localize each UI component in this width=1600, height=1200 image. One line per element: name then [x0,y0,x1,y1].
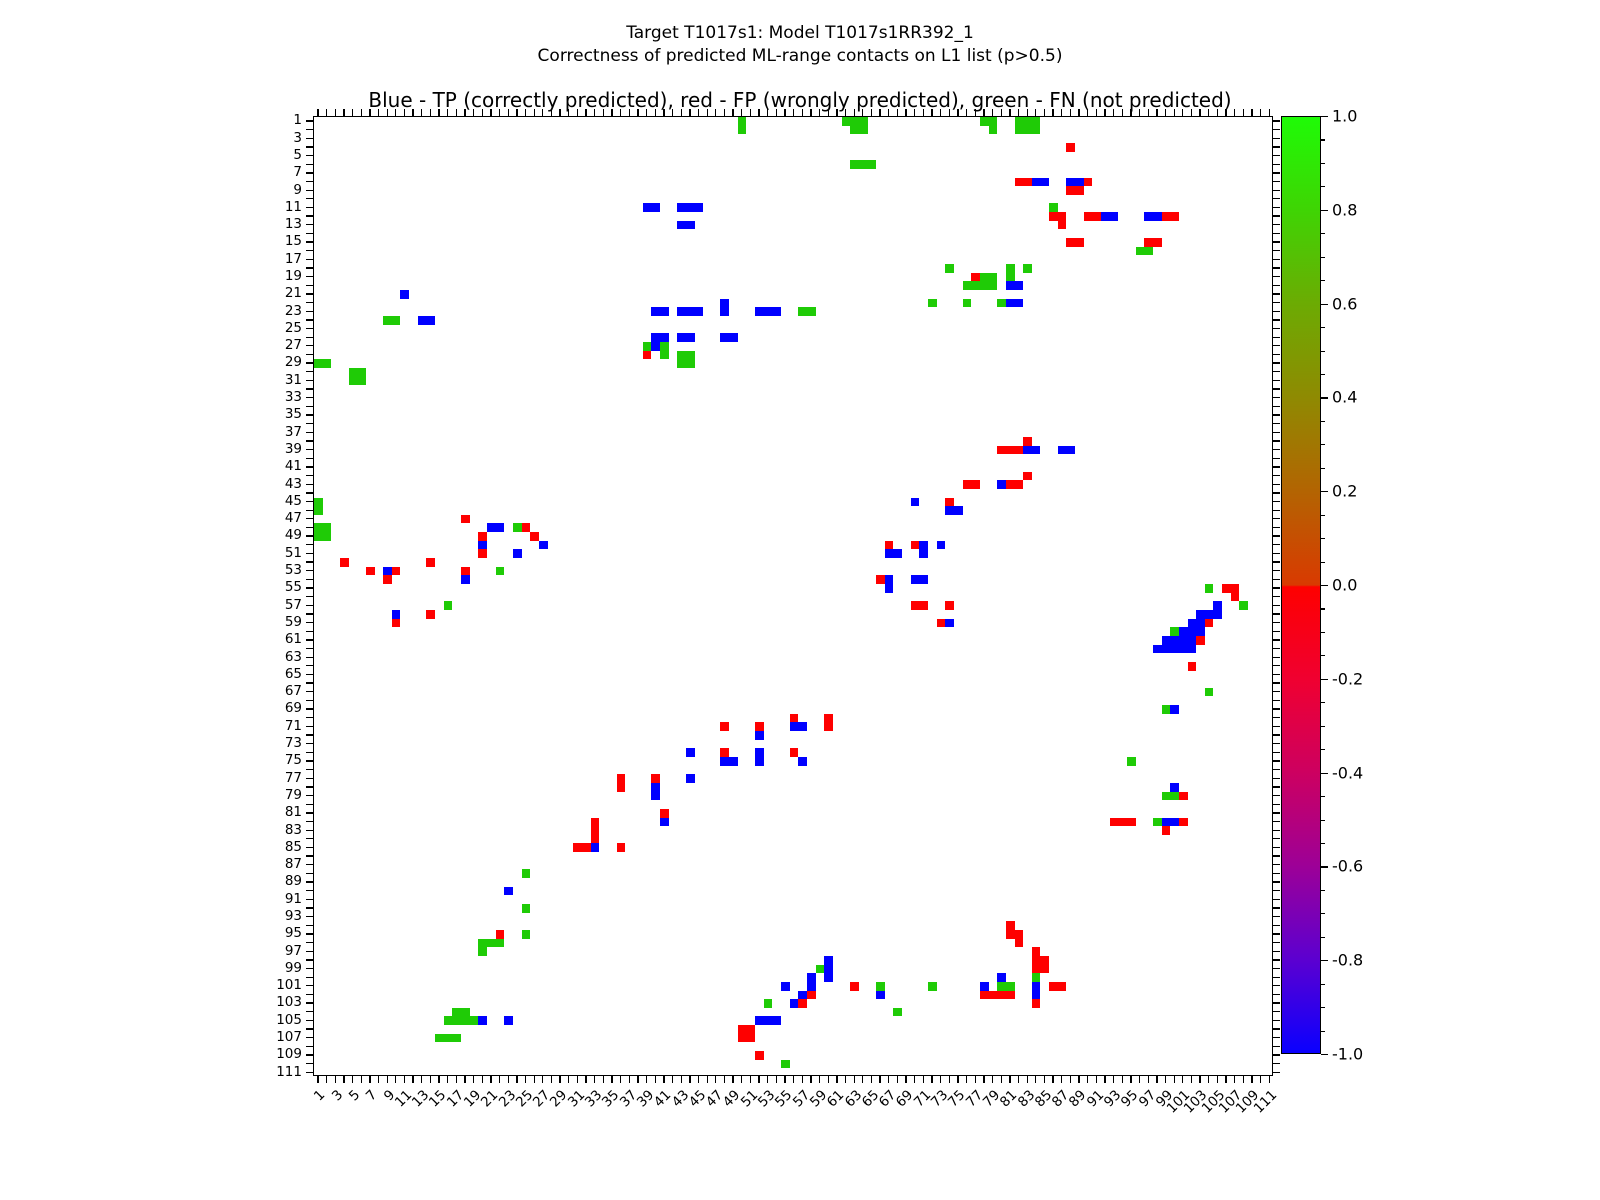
x-tick-top [629,109,630,116]
x-tick-top [1174,109,1175,116]
contact-cell-fp [945,601,954,610]
contact-cell-tp [911,575,928,584]
y-axis-label: 11 [0,199,302,215]
y-tick [306,890,313,891]
y-tick [306,838,313,839]
y-tick-right [1273,691,1280,692]
contact-cell-fn [842,117,851,126]
x-tick-bottom [1087,1076,1088,1083]
y-tick-right [1273,959,1280,960]
y-axis-label: 85 [0,839,302,855]
y-tick [306,371,313,372]
x-tick-bottom [603,1076,604,1083]
contact-cell-tp [720,757,737,766]
y-tick-right [1273,241,1280,242]
x-tick-top [378,109,379,116]
x-tick-top [698,109,699,116]
y-tick [306,933,313,934]
x-tick-bottom [819,1076,820,1083]
contact-cell-tp [651,307,668,316]
y-tick-right [1273,527,1280,528]
x-tick-top [681,109,682,116]
contact-cell-tp [945,619,954,628]
x-tick-bottom [698,1076,699,1083]
y-axis-label: 41 [0,458,302,474]
y-tick-right [1273,354,1280,355]
y-axis-label: 61 [0,631,302,647]
y-axis-label: 51 [0,545,302,561]
x-tick-top [395,109,396,116]
contact-map-plot[interactable] [313,116,1273,1076]
x-tick-bottom [1217,1076,1218,1083]
y-tick [306,285,313,286]
x-tick-top [404,109,405,116]
x-tick-bottom [836,1076,837,1083]
contact-cell-fn [478,947,487,956]
y-tick [306,518,313,519]
x-tick-bottom [655,1076,656,1083]
x-tick-top [542,109,543,116]
contact-cell-fp [591,818,600,827]
contact-cell-fn [928,982,937,991]
y-tick-right [1273,1002,1280,1003]
y-tick [306,994,313,995]
y-axis-label: 27 [0,337,302,353]
x-tick-bottom [715,1076,716,1083]
colorbar-minor-tick [1321,327,1325,328]
x-tick-bottom [438,1076,439,1083]
y-tick-right [1273,890,1280,891]
y-tick-right [1273,138,1280,139]
contact-cell-fp [1231,593,1240,602]
colorbar-minor-tick [1321,491,1325,492]
y-tick-right [1273,734,1280,735]
y-tick-right [1273,613,1280,614]
contact-cell-tp [461,575,470,584]
x-tick-bottom [992,1076,993,1083]
x-tick-bottom [672,1076,673,1083]
contact-cell-fp [1084,212,1101,221]
x-tick-bottom [1243,1076,1244,1083]
contact-cell-fp [980,991,997,1000]
contact-cell-tp [997,973,1006,982]
y-tick [306,120,313,121]
y-tick [306,337,313,338]
x-tick-bottom [1182,1076,1183,1083]
y-tick-right [1273,535,1280,536]
x-tick-top [758,109,759,116]
x-tick-top [724,109,725,116]
y-axis-label: 43 [0,476,302,492]
x-tick-bottom [1199,1076,1200,1083]
colorbar-tick-label: 0.8 [1332,200,1357,219]
x-tick-bottom [395,1076,396,1083]
y-tick-right [1273,622,1280,623]
x-tick-top [1139,109,1140,116]
y-tick [306,484,313,485]
contact-cell-fn [945,264,954,273]
x-tick-top [1035,109,1036,116]
x-tick-top [793,109,794,116]
y-tick-right [1273,190,1280,191]
x-tick-top [335,109,336,116]
contact-cell-fp [617,843,626,852]
y-tick [306,181,313,182]
y-tick-right [1273,1011,1280,1012]
contact-cell-tp [504,887,513,896]
x-tick-top [516,109,517,116]
colorbar-minor-tick [1321,608,1325,609]
y-tick [306,985,313,986]
y-axis-label: 69 [0,700,302,716]
y-tick-right [1273,830,1280,831]
y-tick-right [1273,596,1280,597]
x-tick-bottom [871,1076,872,1083]
x-tick-bottom [957,1076,958,1083]
contact-cell-fp [496,930,505,939]
y-tick-right [1273,458,1280,459]
colorbar-minor-tick [1321,679,1325,680]
y-tick-right [1273,311,1280,312]
y-tick [306,778,313,779]
contact-cell-fp [1049,982,1066,991]
contact-cell-tp [807,973,816,990]
contact-cell-fp [1032,947,1041,973]
contact-cell-fn [781,1060,790,1069]
y-tick [306,475,313,476]
x-tick-bottom [1208,1076,1209,1083]
y-tick [306,155,313,156]
contact-cell-fp [617,774,626,791]
contact-cell-fn [850,117,867,134]
x-tick-top [819,109,820,116]
contact-cell-fn [1032,973,1041,982]
x-tick-bottom [767,1076,768,1083]
y-tick-right [1273,345,1280,346]
colorbar-minor-tick [1321,1007,1325,1008]
contact-cell-fn [513,523,522,532]
y-tick [306,1020,313,1021]
contact-cell-fp [738,1025,747,1034]
y-tick-right [1273,795,1280,796]
contact-cell-fn [1205,688,1214,697]
contact-cell-fn [1023,264,1032,273]
x-tick-top [447,109,448,116]
x-tick-top [1191,109,1192,116]
y-tick [306,786,313,787]
contact-cell-tp [755,748,764,765]
contact-cell-fn [850,160,876,169]
x-tick-bottom [1018,1076,1019,1083]
contact-cell-fn [738,117,747,134]
x-tick-bottom [499,1076,500,1083]
y-tick-right [1273,293,1280,294]
x-tick-bottom [343,1076,344,1083]
x-tick-bottom [1044,1076,1045,1083]
x-tick-bottom [1148,1076,1149,1083]
y-tick-right [1273,362,1280,363]
y-tick [306,1002,313,1003]
contact-cell-fp [1162,212,1179,221]
x-tick-bottom [464,1076,465,1083]
y-tick [306,414,313,415]
y-axis-label: 65 [0,666,302,682]
y-axis-label: 59 [0,614,302,630]
contact-cell-tp [1144,212,1161,221]
x-tick-top [1217,109,1218,116]
contact-cell-fp [807,991,816,1000]
x-tick-bottom [404,1076,405,1083]
colorbar-minor-tick [1321,397,1325,398]
x-tick-top [585,109,586,116]
colorbar-minor-tick [1321,257,1325,258]
x-tick-top [525,109,526,116]
y-tick-right [1273,570,1280,571]
contact-cell-fn [1162,792,1171,801]
y-axis-label: 97 [0,943,302,959]
x-tick-top [1130,109,1131,116]
contact-cell-tp [911,498,920,507]
y-tick [306,873,313,874]
contact-cell-fn [314,498,323,515]
x-tick-top [1104,109,1105,116]
y-tick-right [1273,639,1280,640]
x-tick-bottom [940,1076,941,1083]
y-tick-right [1273,838,1280,839]
contact-cell-fn [1049,203,1058,212]
colorbar-minor-tick [1321,843,1325,844]
contact-cell-fp [591,826,600,843]
contact-cell-fn [383,316,400,325]
y-tick [306,587,313,588]
y-tick-right [1273,1037,1280,1038]
contact-cell-fn [677,351,694,368]
x-tick-bottom [897,1076,898,1083]
x-tick-bottom [620,1076,621,1083]
contact-cell-tp [755,307,781,316]
y-tick [306,708,313,709]
y-tick [306,345,313,346]
x-tick-top [1070,109,1071,116]
x-tick-top [672,109,673,116]
contact-cell-tp [478,1016,487,1025]
x-tick-bottom [1225,1076,1226,1083]
y-tick [306,397,313,398]
x-tick-top [603,109,604,116]
colorbar-tick-label: -0.8 [1332,951,1363,970]
colorbar-minor-tick [1321,937,1325,938]
y-tick [306,1054,313,1055]
contact-cell-fn [963,299,972,308]
contact-cell-fp [573,843,590,852]
contact-cell-fp [1032,999,1041,1008]
x-tick-top [508,109,509,116]
y-tick [306,311,313,312]
y-tick [306,354,313,355]
y-tick [306,795,313,796]
colorbar-minor-tick [1321,139,1325,140]
x-tick-bottom [473,1076,474,1083]
contact-cell-fn [1127,757,1136,766]
y-tick-right [1273,1054,1280,1055]
x-tick-top [412,109,413,116]
y-tick-right [1273,579,1280,580]
x-tick-bottom [1174,1076,1175,1083]
y-axis-label: 99 [0,960,302,976]
contact-cell-tp [487,523,504,532]
x-tick-top [1269,109,1270,116]
y-axis-label: 87 [0,856,302,872]
y-tick-right [1273,682,1280,683]
contact-cell-fp [911,541,920,550]
y-tick-right [1273,674,1280,675]
colorbar-minor-tick [1321,210,1325,211]
y-tick [306,700,313,701]
colorbar[interactable] [1281,116,1321,1054]
x-tick-bottom [534,1076,535,1083]
x-tick-top [767,109,768,116]
y-tick-right [1273,215,1280,216]
y-tick-right [1273,743,1280,744]
y-tick [306,752,313,753]
x-tick-bottom [914,1076,915,1083]
colorbar-tick-label: -1.0 [1332,1045,1363,1064]
y-tick-right [1273,285,1280,286]
y-tick [306,769,313,770]
y-axis-label: 35 [0,406,302,422]
y-tick-right [1273,812,1280,813]
x-tick-bottom [983,1076,984,1083]
x-tick-top [784,109,785,116]
colorbar-minor-tick [1321,984,1325,985]
colorbar-tick-label: 0.0 [1332,576,1357,595]
y-tick [306,760,313,761]
contact-cell-tp [504,1016,513,1025]
x-tick-bottom [776,1076,777,1083]
y-tick-right [1273,561,1280,562]
x-tick-bottom [352,1076,353,1083]
contact-cell-tp [1032,178,1049,187]
y-tick [306,432,313,433]
y-axis-label: 19 [0,268,302,284]
y-tick-right [1273,440,1280,441]
y-tick-right [1273,259,1280,260]
y-axis-label: 33 [0,389,302,405]
x-tick-bottom [1104,1076,1105,1083]
y-tick [306,561,313,562]
y-tick-right [1273,146,1280,147]
contact-cell-fp [1058,221,1067,230]
y-tick-right [1273,786,1280,787]
y-axis-label: 109 [0,1046,302,1062]
y-tick [306,682,313,683]
y-tick-right [1273,855,1280,856]
y-tick [306,639,313,640]
x-tick-bottom [1009,1076,1010,1083]
contact-cell-fn [435,1034,461,1043]
y-tick-right [1273,466,1280,467]
colorbar-tick-label: 1.0 [1332,107,1357,126]
contact-cell-fn [444,1016,479,1025]
x-tick-top [1234,109,1235,116]
contact-cell-fp [1066,186,1083,195]
y-axis-label: 15 [0,233,302,249]
x-tick-top [828,109,829,116]
contact-cell-fp [997,991,1014,1000]
x-tick-top [750,109,751,116]
x-tick-top [352,109,353,116]
colorbar-minor-tick [1321,116,1325,117]
y-axis-label: 63 [0,649,302,665]
contact-cell-fp [1023,472,1032,481]
x-tick-top [940,109,941,116]
contact-cell-tp [997,480,1006,489]
y-tick-right [1273,864,1280,865]
y-tick [306,380,313,381]
y-tick-right [1273,181,1280,182]
y-tick [306,691,313,692]
contact-cell-fn [1015,117,1041,134]
x-tick-top [317,109,318,116]
contact-cell-fn [764,999,773,1008]
contact-cell-fn [314,523,331,540]
x-tick-bottom [1260,1076,1261,1083]
colorbar-minor-tick [1321,186,1325,187]
x-tick-top [1018,109,1019,116]
y-axis-label: 29 [0,354,302,370]
contact-cell-tp [755,1016,781,1025]
contact-cell-tp [790,722,807,731]
y-tick [306,328,313,329]
y-tick-right [1273,423,1280,424]
contact-cell-fp [1023,437,1032,446]
y-tick [306,319,313,320]
y-tick-right [1273,1028,1280,1029]
x-tick-bottom [335,1076,336,1083]
x-tick-top [923,109,924,116]
x-tick-top [490,109,491,116]
contact-cell-fp [651,774,660,783]
x-tick-top [456,109,457,116]
x-tick-bottom [559,1076,560,1083]
contact-cell-fp [937,619,946,628]
y-tick [306,440,313,441]
colorbar-minor-tick [1321,866,1325,867]
x-tick-top [914,109,915,116]
x-tick-top [438,109,439,116]
y-tick [306,674,313,675]
x-tick-top [957,109,958,116]
x-tick-bottom [326,1076,327,1083]
y-tick [306,570,313,571]
y-tick [306,968,313,969]
y-tick-right [1273,276,1280,277]
y-tick-right [1273,977,1280,978]
x-tick-top [559,109,560,116]
contact-cell-fp [824,714,833,731]
x-tick-top [482,109,483,116]
colorbar-minor-tick [1321,515,1325,516]
contact-cell-fn [1162,705,1171,714]
y-tick-right [1273,925,1280,926]
x-tick-bottom [1113,1076,1114,1083]
x-tick-top [551,109,552,116]
y-axis-label: 21 [0,285,302,301]
y-tick [306,881,313,882]
colorbar-minor-tick [1321,562,1325,563]
title-line-1: Target T1017s1: Model T1017s1RR392_1 [0,22,1600,45]
x-tick-top [776,109,777,116]
